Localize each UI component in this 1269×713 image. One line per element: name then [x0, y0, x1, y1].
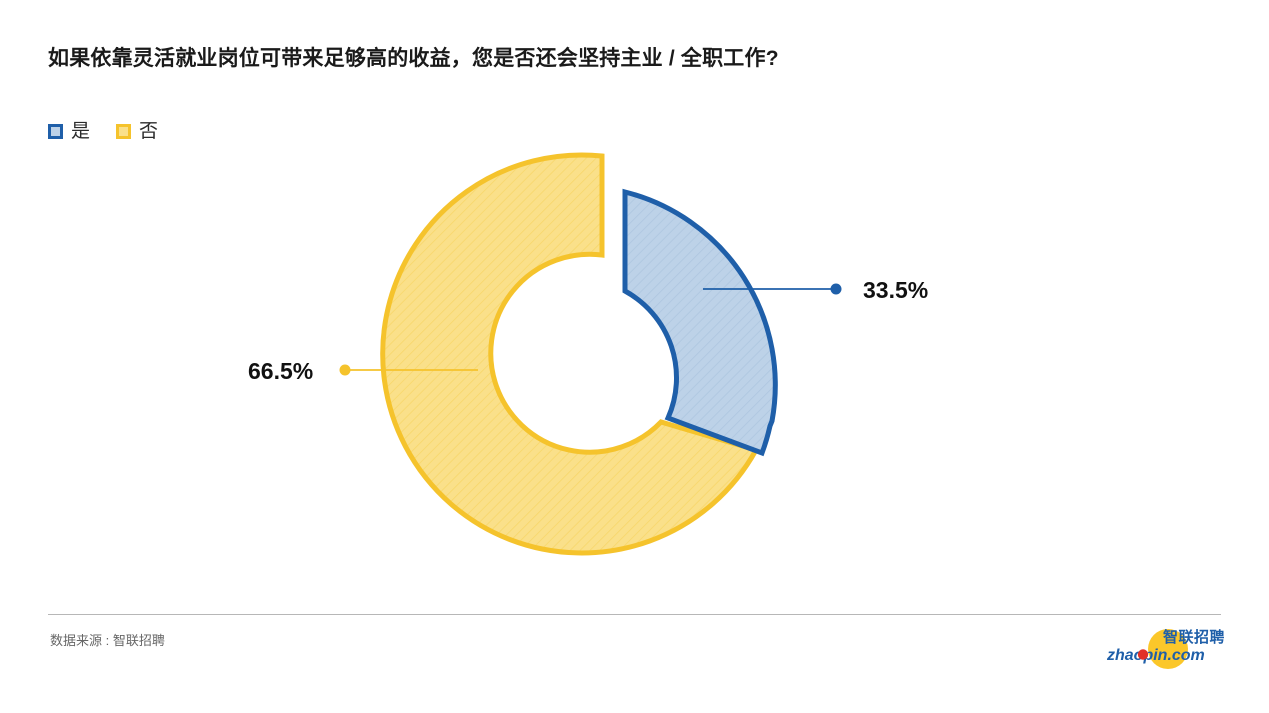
zhaopin-logo-svg: 智联招聘 zhaopin.com — [1106, 624, 1224, 670]
data-label-no-text: 66.5% — [248, 358, 313, 384]
logo-brand-cn: 智联招聘 — [1163, 628, 1224, 646]
data-source-text: 数据来源 : 智联招聘 — [50, 632, 165, 650]
donut-segment-yes[interactable] — [625, 192, 775, 453]
leader-dot-yes-icon — [831, 284, 842, 295]
footer-divider — [48, 614, 1221, 615]
data-label-yes-text: 33.5% — [863, 277, 928, 303]
logo-red-dot-icon — [1138, 649, 1148, 659]
donut-chart: 33.5% 66.5% — [0, 130, 1269, 590]
page-title: 如果依靠灵活就业岗位可带来足够高的收益，您是否还会坚持主业 / 全职工作? — [48, 44, 1228, 74]
logo-brand-en: zhaopin.com — [1106, 647, 1205, 664]
donut-chart-svg: 33.5% 66.5% — [0, 130, 1269, 590]
leader-dot-no-icon — [340, 365, 351, 376]
zhaopin-logo[interactable]: 智联招聘 zhaopin.com — [1106, 624, 1224, 670]
